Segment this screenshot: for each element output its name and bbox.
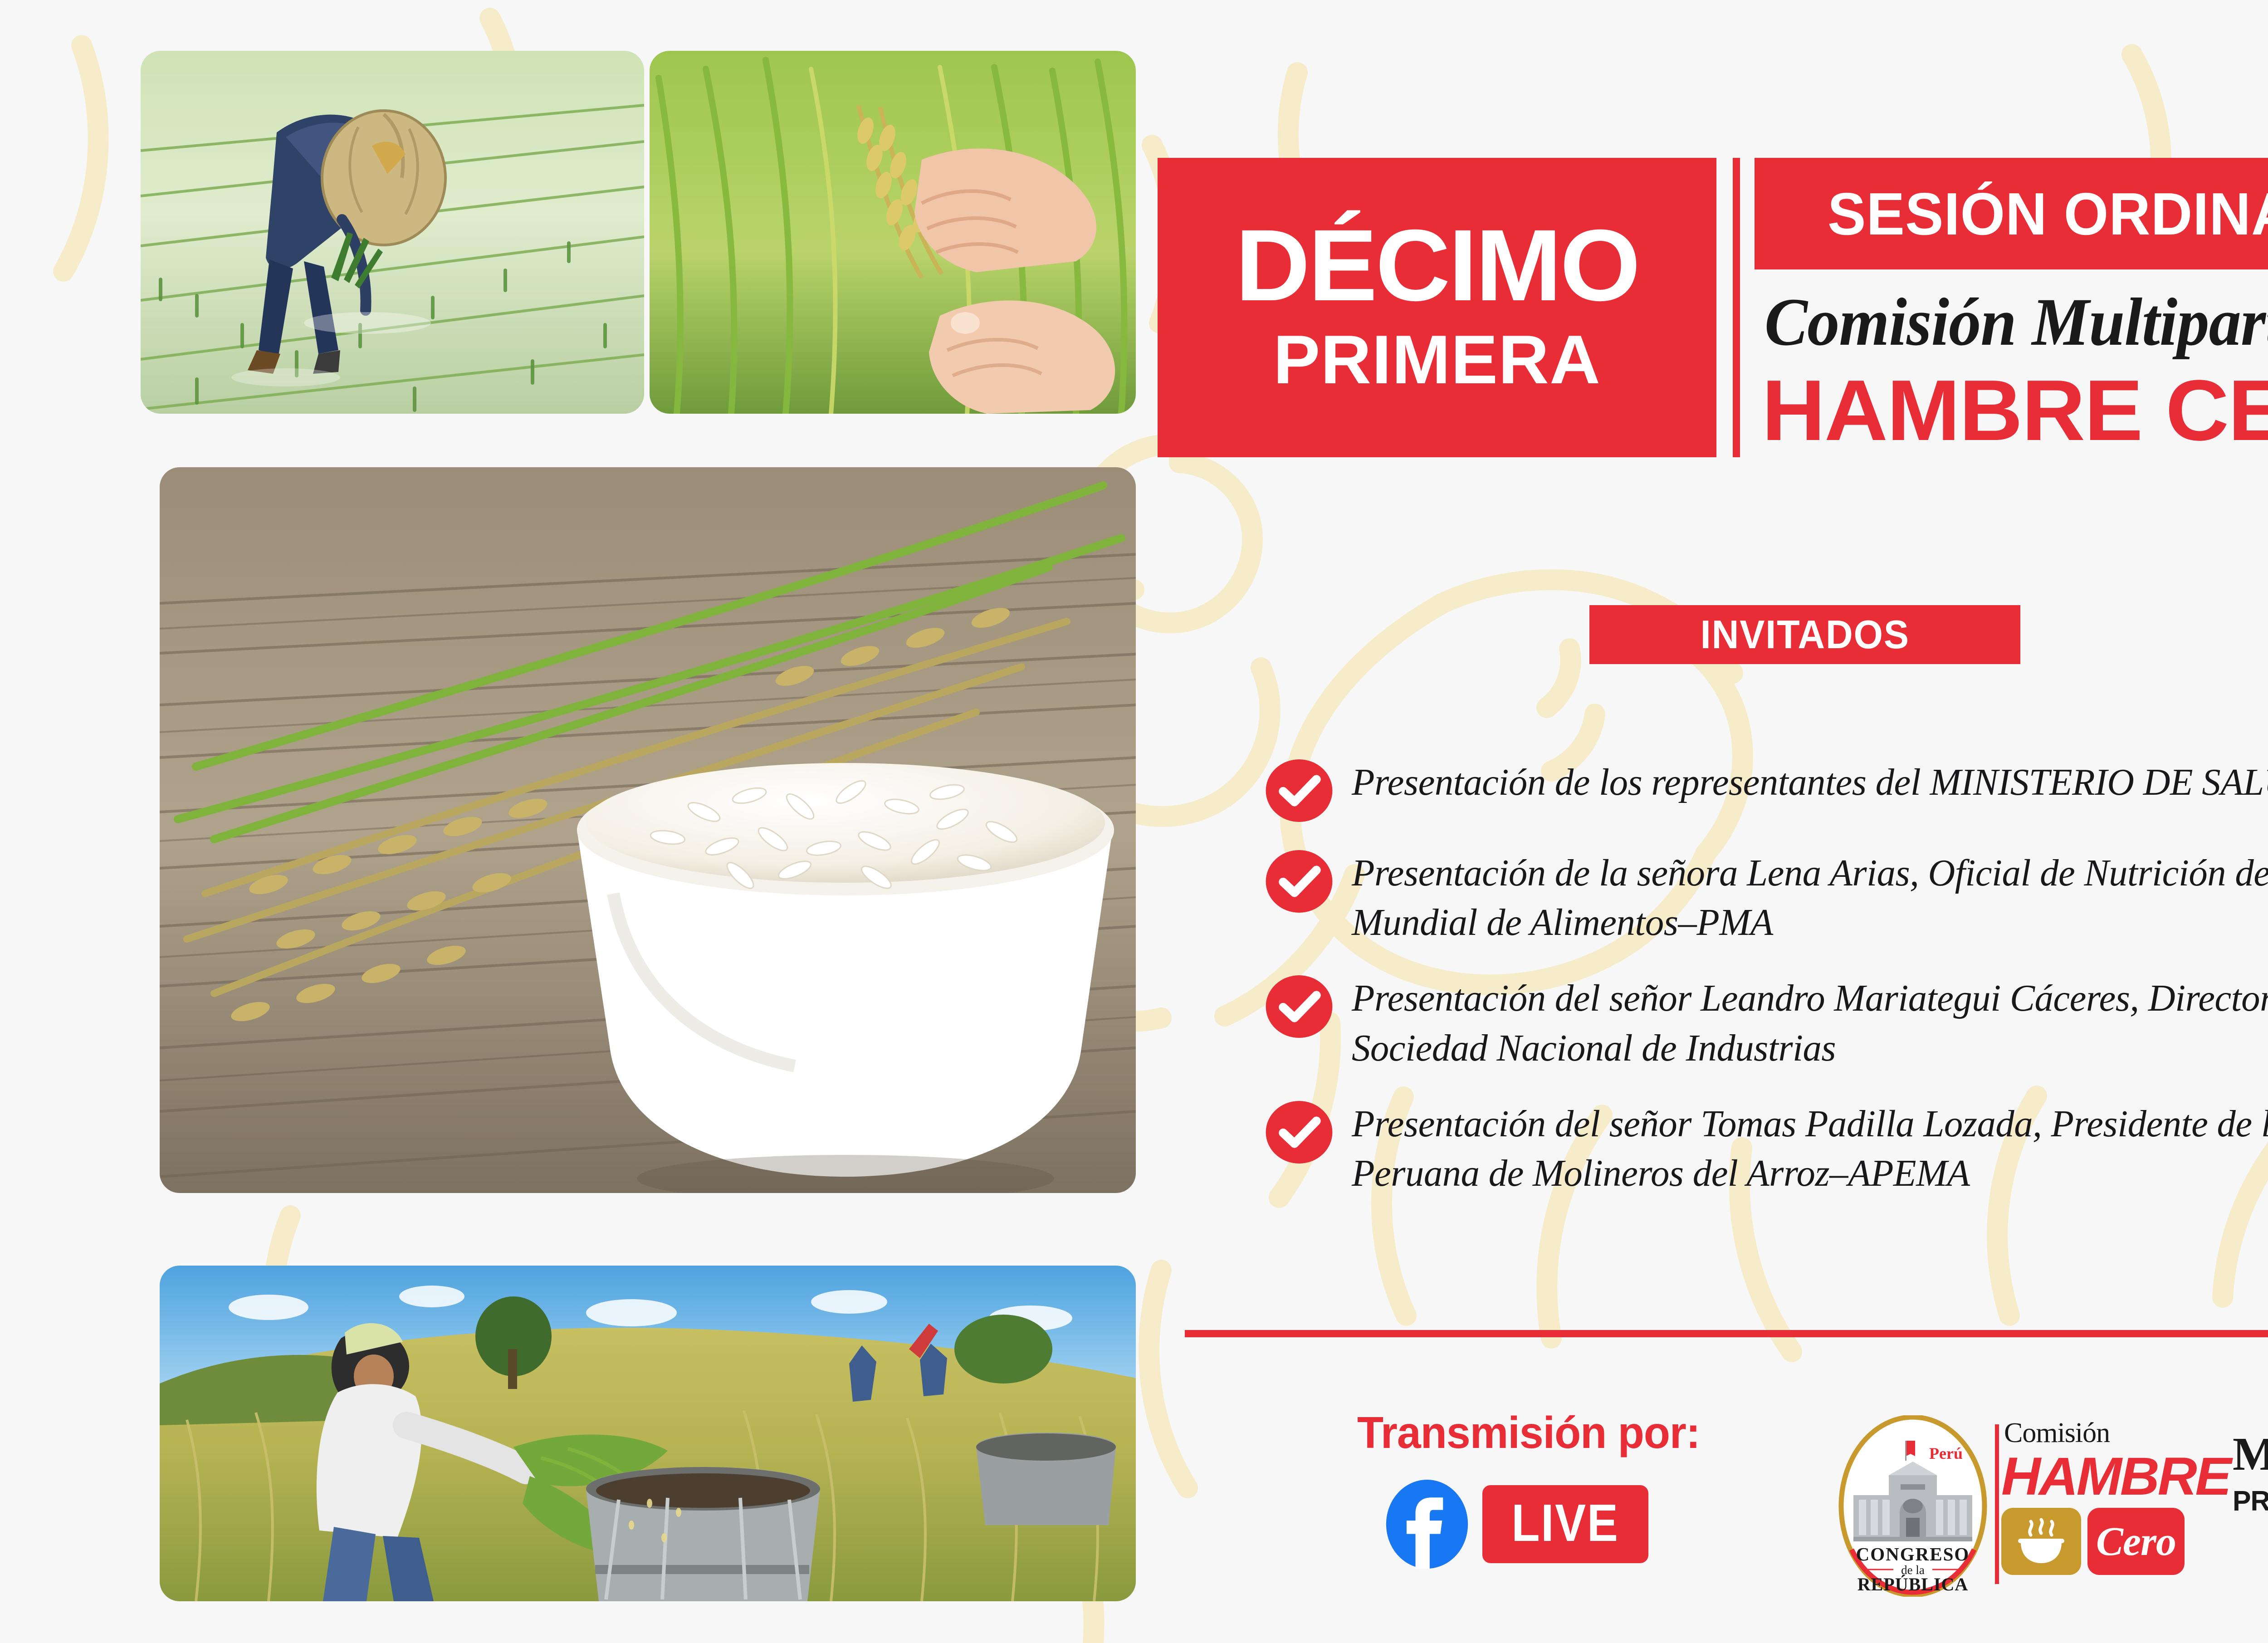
hc-word-hambre: HAMBRE xyxy=(2001,1450,2200,1503)
check-circle-icon xyxy=(1266,1101,1333,1164)
facebook-icon[interactable] xyxy=(1383,1480,1471,1569)
ordinal-line2: PRIMERA xyxy=(1273,324,1601,396)
president-name: Marleny Portero xyxy=(2233,1431,2268,1478)
president-slogan: ¡Nacida para Servir! xyxy=(2233,1520,2268,1558)
commission-name: HAMBRE CERO xyxy=(1762,361,2268,460)
check-circle-icon xyxy=(1266,850,1333,913)
congress-country: Perú xyxy=(1929,1444,1963,1462)
header-vertical-rule xyxy=(1733,158,1740,457)
logo-divider xyxy=(1995,1424,1999,1584)
check-circle-icon xyxy=(1266,759,1333,822)
session-type-label: SESIÓN ORDINARIA xyxy=(1828,180,2268,248)
live-label: LIVE xyxy=(1511,1492,1619,1553)
rice-hands-photo xyxy=(650,51,1136,414)
guest-text: Presentación del señor Tomas Padilla Loz… xyxy=(1352,1099,2268,1198)
guests-badge-label: INVITADOS xyxy=(1700,611,1909,658)
list-item: Presentación del señor Leandro Mariategu… xyxy=(1266,973,2268,1072)
president-signature-block: Marleny Portero PRESIDENTA DE COMISIÓN ¡… xyxy=(2233,1431,2268,1558)
list-item: Presentación de los representantes del M… xyxy=(1266,758,2268,822)
guest-text: Presentación de la señora Lena Arias, Of… xyxy=(1352,848,2268,947)
rice-harvest-photo xyxy=(160,1266,1136,1601)
ordinal-line1: DÉCIMO xyxy=(1235,219,1638,312)
hc-word-cero: Cero xyxy=(2096,1518,2176,1565)
footer-divider xyxy=(1185,1330,2268,1337)
president-first-name: Marleny xyxy=(2233,1428,2268,1480)
congress-line1: CONGRESO xyxy=(1856,1544,1970,1565)
hc-word-cero-badge: Cero xyxy=(2087,1508,2185,1575)
live-badge[interactable]: LIVE xyxy=(1482,1485,1648,1563)
guest-text: Presentación de los representantes del M… xyxy=(1352,758,2268,807)
session-type-band: SESIÓN ORDINARIA xyxy=(1755,158,2268,269)
list-item: Presentación del señor Tomas Padilla Loz… xyxy=(1266,1099,2268,1198)
facebook-live-block[interactable]: LIVE xyxy=(1383,1480,1648,1569)
guest-text: Presentación del señor Leandro Mariategu… xyxy=(1352,973,2268,1072)
check-circle-icon xyxy=(1266,975,1333,1038)
poster-canvas: DÉCIMO PRIMERA SESIÓN ORDINARIA Comisión… xyxy=(0,0,2268,1643)
rice-bowl-photo xyxy=(160,467,1136,1193)
hc-eyebrow: Comisión xyxy=(2004,1419,2196,1447)
president-role: PRESIDENTA DE COMISIÓN xyxy=(2233,1485,2268,1517)
ordinal-block: DÉCIMO PRIMERA xyxy=(1158,158,1716,457)
guests-badge: INVITADOS xyxy=(1589,605,2020,664)
footer-block: Transmisión por: LIVE xyxy=(1185,1397,2268,1606)
congress-logo: Perú CONGRESO de la REPÚBLICA xyxy=(1838,1415,1988,1597)
broadcast-label: Transmisión por: xyxy=(1357,1407,1700,1458)
congress-line3: REPÚBLICA xyxy=(1857,1574,1969,1594)
list-item: Presentación de la señora Lena Arias, Of… xyxy=(1266,848,2268,947)
commission-subtitle: Comisión Multipartidaria xyxy=(1765,283,2268,361)
guests-list: Presentación de los representantes del M… xyxy=(1266,758,2268,1224)
hambre-cero-logo: Comisión HAMBRE Cero xyxy=(2001,1419,2196,1596)
soup-bowl-icon xyxy=(2001,1508,2081,1575)
rice-planting-photo xyxy=(141,51,644,414)
